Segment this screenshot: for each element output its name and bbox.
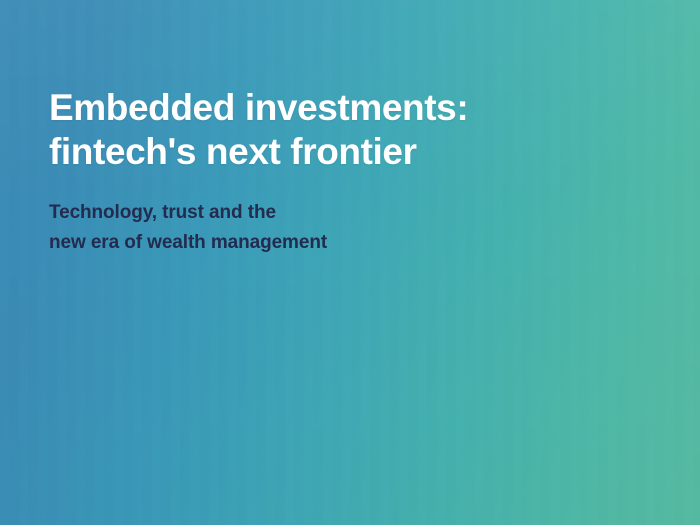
page-title: Embedded investments: fintech's next fro… [49, 86, 468, 174]
cover-text-block: Embedded investments: fintech's next fro… [49, 86, 468, 258]
cover-page: Embedded investments: fintech's next fro… [0, 0, 700, 525]
page-subtitle: Technology, trust and the new era of wea… [49, 198, 468, 258]
